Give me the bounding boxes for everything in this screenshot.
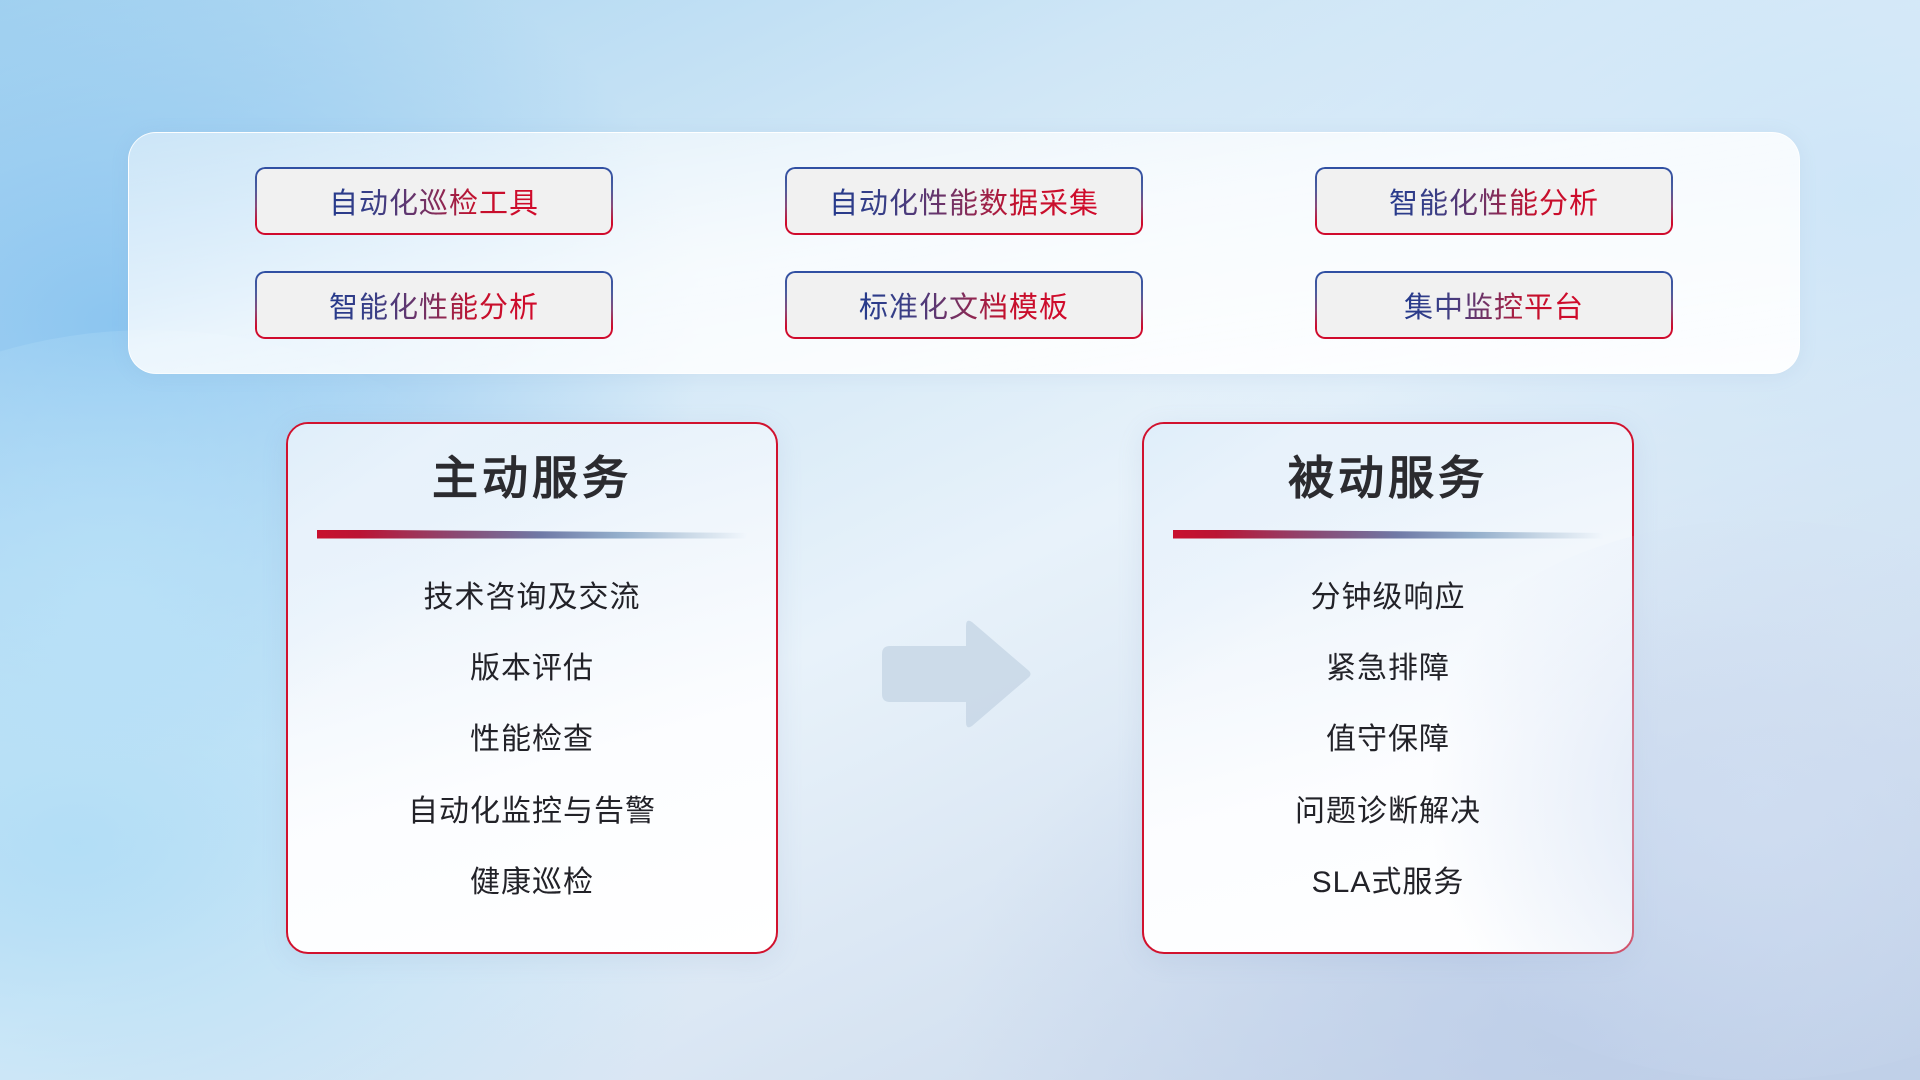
service-card-reactive[interactable]: 被动服务 分钟级响应 紧急排障 值守保障 问题诊断解决 SLA式服务 <box>1142 422 1634 954</box>
list-item: 健康巡检 <box>470 865 594 901</box>
list-item: 分钟级响应 <box>1311 580 1466 616</box>
list-item: 版本评估 <box>470 651 594 687</box>
capability-tag-label: 智能化性能分析 <box>1389 180 1599 222</box>
arrow-right-icon <box>874 618 1034 736</box>
capability-tag-label: 自动化性能数据采集 <box>829 180 1099 222</box>
capability-tag[interactable]: 智能化性能分析 <box>1315 167 1673 235</box>
slide-canvas: 自动化巡检工具 自动化性能数据采集 智能化性能分析 智能化性能分析 标准化文档模… <box>0 0 1920 1080</box>
capability-tag[interactable]: 集中监控平台 <box>1315 271 1673 339</box>
capability-tag[interactable]: 标准化文档模板 <box>785 271 1143 339</box>
list-item: 自动化监控与告警 <box>408 794 656 830</box>
card-item-list: 技术咨询及交流 版本评估 性能检查 自动化监控与告警 健康巡检 <box>288 545 776 953</box>
card-divider <box>317 530 747 539</box>
list-item: 紧急排障 <box>1326 651 1450 687</box>
list-item: 问题诊断解决 <box>1295 794 1481 830</box>
card-divider <box>1173 530 1603 539</box>
list-item: 值守保障 <box>1326 722 1450 758</box>
capability-tag-label: 自动化巡检工具 <box>329 180 539 222</box>
card-title: 主动服务 <box>432 450 632 508</box>
capability-tags-panel: 自动化巡检工具 自动化性能数据采集 智能化性能分析 智能化性能分析 标准化文档模… <box>128 132 1800 374</box>
capability-tag-label: 标准化文档模板 <box>859 284 1069 326</box>
capability-tag[interactable]: 自动化性能数据采集 <box>785 167 1143 235</box>
capability-tag[interactable]: 智能化性能分析 <box>255 271 613 339</box>
capability-tag-label: 集中监控平台 <box>1404 284 1584 326</box>
service-card-proactive[interactable]: 主动服务 技术咨询及交流 版本评估 性能检查 自动化监控与告警 健康巡检 <box>286 422 778 954</box>
list-item: SLA式服务 <box>1312 865 1465 901</box>
capability-tag-label: 智能化性能分析 <box>329 284 539 326</box>
list-item: 性能检查 <box>470 722 594 758</box>
card-title: 被动服务 <box>1288 450 1488 508</box>
card-item-list: 分钟级响应 紧急排障 值守保障 问题诊断解决 SLA式服务 <box>1144 545 1632 953</box>
capability-tag[interactable]: 自动化巡检工具 <box>255 167 613 235</box>
list-item: 技术咨询及交流 <box>424 580 641 616</box>
